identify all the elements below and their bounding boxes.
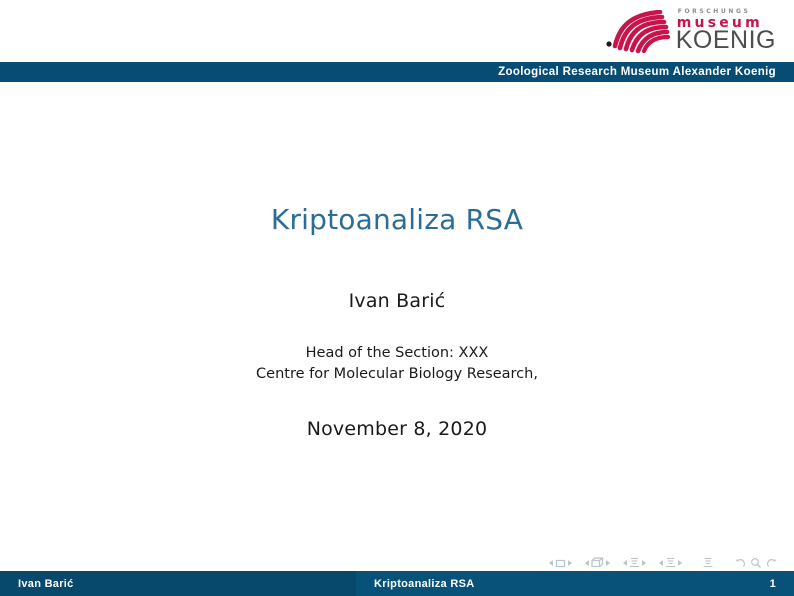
institute-line-2: Centre for Molecular Biology Research,	[0, 364, 794, 385]
document-navigation-group[interactable]	[700, 557, 716, 569]
slide-body: Kriptoanaliza RSA Ivan Barić Head of the…	[0, 82, 794, 571]
logo-wordmark: FORSCHUNGS museum KOENIG	[676, 9, 776, 54]
next-section-icon[interactable]	[678, 560, 682, 566]
koenig-wing-mark-icon	[604, 10, 674, 54]
frame-nav-icon[interactable]	[591, 557, 604, 569]
header-bar-title: Zoological Research Museum Alexander Koe…	[498, 66, 794, 78]
institute-line-1: Head of the Section: XXX	[0, 343, 794, 364]
beamer-navigation-bar[interactable]	[547, 556, 780, 570]
next-slide-icon[interactable]	[568, 560, 572, 566]
author-name: Ivan Barić	[0, 290, 794, 312]
history-navigation-group[interactable]	[732, 557, 780, 569]
logo-koenig-text: KOENIG	[676, 28, 776, 53]
magnifier-icon[interactable]	[750, 557, 762, 569]
presentation-date: November 8, 2020	[0, 418, 794, 440]
slide-navigation-group[interactable]	[547, 558, 574, 569]
next-subsection-icon[interactable]	[642, 560, 646, 566]
previous-slide-icon[interactable]	[549, 560, 553, 566]
previous-frame-icon[interactable]	[585, 560, 589, 566]
institute-block: Head of the Section: XXX Centre for Mole…	[0, 343, 794, 386]
slide-nav-icon[interactable]	[555, 558, 566, 569]
previous-section-icon[interactable]	[659, 560, 663, 566]
subsection-navigation-group[interactable]	[621, 557, 648, 569]
logo-area: FORSCHUNGS museum KOENIG	[0, 0, 794, 62]
footer-title: Kriptoanaliza RSA	[356, 571, 748, 596]
presentation-nav-icon[interactable]	[702, 557, 714, 569]
footer-page-number: 1	[748, 571, 794, 596]
footer-bar: Ivan Barić Kriptoanaliza RSA 1	[0, 571, 794, 596]
page-title: Kriptoanaliza RSA	[0, 203, 794, 236]
next-frame-icon[interactable]	[606, 560, 610, 566]
museum-koenig-logo: FORSCHUNGS museum KOENIG	[604, 8, 776, 54]
forward-arrow-icon[interactable]	[766, 557, 778, 569]
footer-author: Ivan Barić	[0, 571, 356, 596]
previous-subsection-icon[interactable]	[623, 560, 627, 566]
section-navigation-group[interactable]	[657, 557, 684, 569]
header-bar: Zoological Research Museum Alexander Koe…	[0, 62, 794, 82]
section-nav-icon[interactable]	[665, 557, 676, 569]
frame-navigation-group[interactable]	[583, 557, 612, 569]
subsection-nav-icon[interactable]	[629, 557, 640, 569]
back-arrow-icon[interactable]	[734, 557, 746, 569]
